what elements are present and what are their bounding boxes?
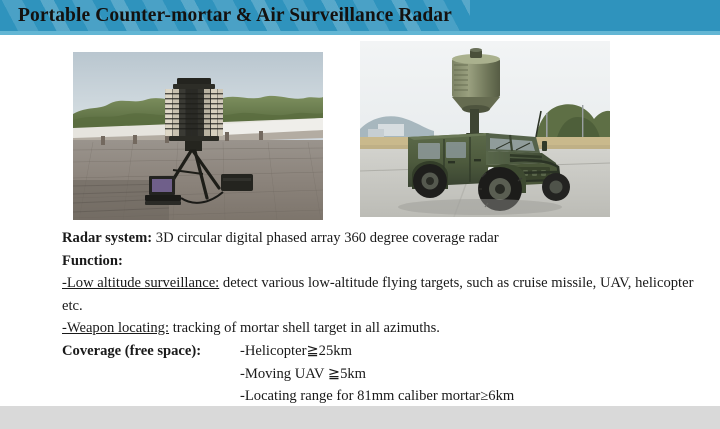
coverage-label: Coverage (free space):	[62, 340, 240, 363]
photo-rooftop-phased-array-radar-on-tripod	[73, 52, 323, 220]
function-item-low-altitude-surveillance: -Low altitude surveillance: detect vario…	[62, 272, 712, 317]
header-underline-accent	[0, 31, 720, 35]
coverage-item-locating-range-mortar: -Locating range for 81mm caliber mortar≥…	[240, 385, 712, 408]
coverage-item-helicopter: -Helicopter≧25km	[240, 340, 712, 363]
military-radar-vehicle-illustration	[360, 41, 610, 217]
photo-military-vehicle-with-mast-mounted-radar	[360, 41, 610, 217]
function-item-weapon-locating: -Weapon locating: tracking of mortar she…	[62, 317, 712, 340]
page-title: Portable Counter-mortar & Air Surveillan…	[18, 1, 452, 31]
function-item-1-label: -Weapon locating:	[62, 320, 169, 336]
slide-body-text: Radar system: 3D circular digital phased…	[62, 227, 712, 408]
rooftop-radar-illustration	[73, 52, 323, 220]
coverage-first-row: Coverage (free space): -Helicopter≧25km	[62, 340, 712, 363]
slide-footer-bar	[0, 406, 720, 429]
radar-system-value: 3D circular digital phased array 360 deg…	[156, 230, 499, 246]
radar-system-line: Radar system: 3D circular digital phased…	[62, 227, 712, 250]
coverage-item-moving-uav: -Moving UAV ≧5km	[240, 363, 712, 386]
function-heading: Function:	[62, 250, 712, 273]
function-item-0-label: -Low altitude surveillance:	[62, 275, 219, 291]
radar-system-label: Radar system:	[62, 230, 152, 246]
function-item-1-text: tracking of mortar shell target in all a…	[173, 320, 440, 336]
